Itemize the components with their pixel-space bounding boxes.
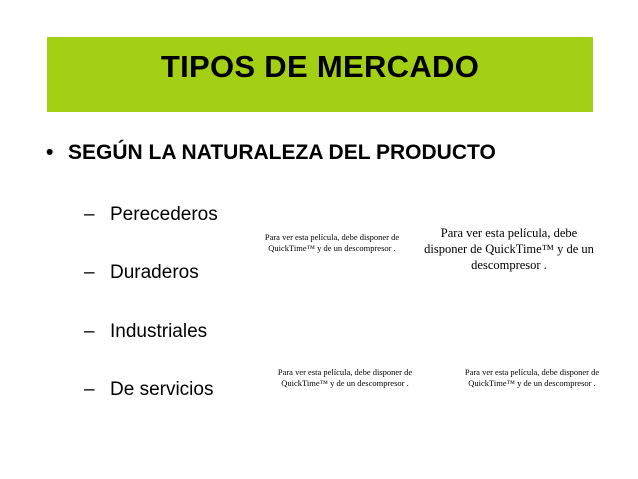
bullet-level2-perecederos: – Perecederos	[84, 203, 384, 227]
bullet-dash-icon: –	[84, 320, 110, 344]
bullet-dash-icon: –	[84, 203, 110, 227]
quicktime-placeholder-note: Para ver esta película, debe disponer de…	[262, 232, 402, 254]
quicktime-placeholder-note: Para ver esta película, debe disponer de…	[456, 367, 608, 389]
quicktime-placeholder-note: Para ver esta película, debe disponer de…	[272, 367, 418, 389]
bullet-dash-icon: –	[84, 378, 110, 402]
bullet-level2-label: Perecederos	[110, 203, 218, 227]
bullet-level2-label: Duraderos	[110, 261, 199, 285]
bullet-level2-duraderos: – Duraderos	[84, 261, 384, 285]
quicktime-placeholder-note: Para ver esta película, debe disponer de…	[418, 225, 600, 273]
bullet-level2-label: De servicios	[110, 378, 213, 402]
bullet-level1-label: SEGÚN LA NATURALEZA DEL PRODUCTO	[68, 140, 496, 166]
page-title: TIPOS DE MERCADO	[47, 47, 593, 87]
bullet-level1: • SEGÚN LA NATURALEZA DEL PRODUCTO	[46, 140, 606, 166]
bullet-dash-icon: –	[84, 261, 110, 285]
bullet-dot-icon: •	[46, 140, 68, 166]
bullet-level2-industriales: – Industriales	[84, 320, 384, 344]
bullet-level2-label: Industriales	[110, 320, 207, 344]
slide: TIPOS DE MERCADO • SEGÚN LA NATURALEZA D…	[0, 0, 638, 479]
